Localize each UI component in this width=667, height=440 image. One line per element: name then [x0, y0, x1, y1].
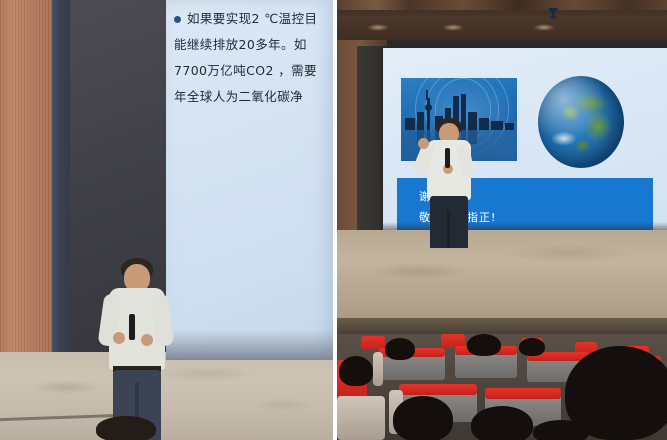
audience-seating — [337, 334, 667, 440]
screen-bottom-shadow — [166, 330, 333, 360]
speaker-left — [95, 258, 187, 440]
ceiling-light-strip — [337, 0, 667, 10]
building — [505, 123, 514, 130]
audience-head — [519, 338, 545, 356]
seat-armrest — [373, 352, 383, 386]
ceiling-light — [442, 24, 464, 31]
seat-headrest — [399, 384, 477, 395]
audience-head — [471, 406, 533, 440]
projection-screen-left: 如果要实现2 ℃温控目 能继续排放20多年。如 7700万亿吨CO2 ，需要 年… — [166, 0, 333, 358]
foreground-audience-head-left — [96, 416, 156, 440]
slide-line-2: 能继续排放20多年。如 — [174, 32, 333, 58]
building — [491, 121, 503, 130]
audience-head — [393, 396, 453, 440]
screenshot-canvas: 如果要实现2 ℃温控目 能继续排放20多年。如 7700万亿吨CO2 ，需要 年… — [0, 0, 667, 440]
ceiling-light — [533, 24, 555, 31]
speaker-hand-left — [113, 332, 125, 344]
microphone — [445, 148, 450, 168]
seat-headrest — [485, 388, 561, 399]
slide-body-text: 如果要实现2 ℃温控目 能继续排放20多年。如 7700万亿吨CO2 ，需要 年… — [174, 6, 333, 110]
tv-tower-sphere — [425, 104, 432, 111]
ceiling-light — [367, 24, 389, 31]
audience-head — [467, 334, 501, 356]
audience-head — [339, 356, 373, 386]
earth-globe-image — [538, 76, 624, 168]
seat-armrest — [337, 396, 385, 440]
slide-line-3: 7700万亿吨CO2 ，需要 — [174, 58, 333, 84]
speaker-right — [417, 118, 487, 248]
microphone — [129, 314, 135, 340]
building — [405, 118, 415, 130]
wood-wall-panel — [0, 0, 58, 396]
audience-head — [533, 420, 589, 440]
speaker-hand-right — [141, 334, 153, 346]
projector-icon — [546, 6, 560, 18]
slide-line-4: 年全球人为二氧化碳净 — [174, 84, 333, 110]
speaker-leg-split — [447, 210, 450, 248]
photo-left: 如果要实现2 ℃温控目 能继续排放20多年。如 7700万亿吨CO2 ，需要 年… — [0, 0, 333, 440]
bullet-icon — [174, 16, 181, 23]
audience-head — [385, 338, 415, 360]
slide-line-1: 如果要实现2 ℃温控目 — [174, 6, 333, 32]
photo-right: 谢谢! 敬请批评指正! — [337, 0, 667, 440]
speaker-fist-left — [418, 138, 429, 149]
tv-tower-spire — [426, 90, 428, 100]
stage-front-edge — [337, 318, 667, 334]
